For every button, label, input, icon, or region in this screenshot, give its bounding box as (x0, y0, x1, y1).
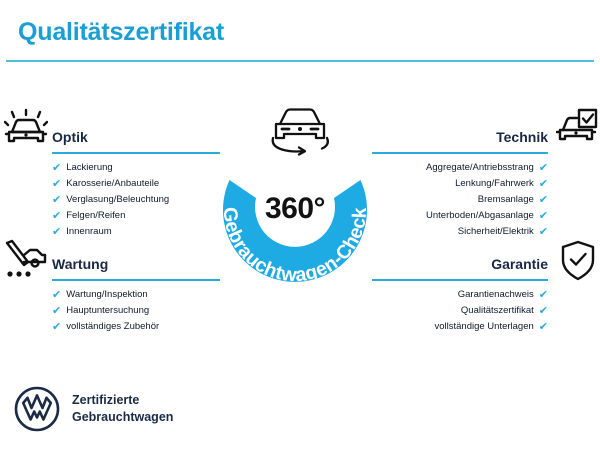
list-item-label: Felgen/Reifen (66, 208, 125, 224)
check-icon: ✔ (52, 227, 61, 238)
footer-line-1: Zertifizierte (72, 392, 173, 409)
list-item-label: Bremsanlage (478, 192, 534, 208)
check-icon: ✔ (539, 179, 548, 190)
check-icon: ✔ (539, 227, 548, 238)
check-icon: ✔ (539, 306, 548, 317)
360-check-badge: Gebrauchtwagen-Check 360° (203, 140, 387, 302)
footer-brand: Zertifizierte Gebrauchtwagen (14, 386, 173, 432)
section-wartung: Wartung ✔Wartung/Inspektion ✔Hauptunters… (52, 255, 220, 335)
list-item-label: Karosserie/Anbauteile (66, 176, 159, 192)
car-shine-icon (4, 108, 48, 155)
check-icon: ✔ (52, 179, 61, 190)
check-icon: ✔ (52, 195, 61, 206)
footer-line-2: Gebrauchtwagen (72, 409, 173, 426)
check-icon: ✔ (52, 306, 61, 317)
list-item-label: Sicherheit/Elektrik (458, 224, 534, 240)
list-item: ✔Karosserie/Anbauteile (52, 176, 220, 192)
list-item-label: Innenraum (66, 224, 111, 240)
certificate-page: Qualitätszertifikat Optik ✔Lackierung ✔K… (0, 0, 600, 450)
list-item: ✔Lackierung (52, 160, 220, 176)
check-icon: ✔ (52, 211, 61, 222)
list-item-label: vollständige Unterlagen (434, 319, 533, 335)
section-technik-divider (372, 152, 548, 154)
list-item-label: Wartung/Inspektion (66, 287, 148, 303)
check-icon: ✔ (52, 163, 61, 174)
title-divider (6, 60, 594, 62)
footer-text: Zertifizierte Gebrauchtwagen (72, 392, 173, 426)
section-optik: Optik ✔Lackierung ✔Karosserie/Anbauteile… (52, 128, 220, 240)
list-item: ✔Hauptuntersuchung (52, 303, 220, 319)
list-item-label: Verglasung/Beleuchtung (66, 192, 169, 208)
section-wartung-divider (52, 279, 220, 281)
section-garantie: Garantie Garantienachweis✔ Qualitätszert… (372, 255, 548, 335)
section-optik-header: Optik (52, 128, 220, 154)
check-icon: ✔ (539, 195, 548, 206)
badge-number: 360° (203, 192, 387, 226)
check-icon: ✔ (539, 211, 548, 222)
section-technik: Technik Aggregate/Antriebsstrang✔ Lenkun… (372, 128, 548, 240)
section-garantie-title: Garantie (372, 255, 548, 273)
list-item: ✔vollständiges Zubehör (52, 319, 220, 335)
list-item-label: Aggregate/Antriebsstrang (426, 160, 534, 176)
list-item-label: Unterboden/Abgasanlage (426, 208, 534, 224)
car-checkbox-icon (556, 108, 598, 155)
list-item-label: Lackierung (66, 160, 112, 176)
list-item: ✔Felgen/Reifen (52, 208, 220, 224)
list-item-label: Qualitätszertifikat (461, 303, 534, 319)
list-item: ✔Innenraum (52, 224, 220, 240)
section-optik-divider (52, 152, 220, 154)
check-icon: ✔ (52, 322, 61, 333)
list-item: vollständige Unterlagen✔ (372, 319, 548, 335)
section-optik-list: ✔Lackierung ✔Karosserie/Anbauteile ✔Verg… (52, 154, 220, 240)
list-item-label: Garantienachweis (458, 287, 534, 303)
list-item: ✔Wartung/Inspektion (52, 287, 220, 303)
section-technik-list: Aggregate/Antriebsstrang✔ Lenkung/Fahrwe… (372, 154, 548, 240)
list-item: Garantienachweis✔ (372, 287, 548, 303)
car-rotation-icon (258, 102, 342, 158)
section-wartung-header: Wartung (52, 255, 220, 281)
section-garantie-header: Garantie (372, 255, 548, 281)
section-wartung-title: Wartung (52, 255, 220, 273)
section-wartung-list: ✔Wartung/Inspektion ✔Hauptuntersuchung ✔… (52, 281, 220, 335)
list-item: Qualitätszertifikat✔ (372, 303, 548, 319)
list-item-label: vollständiges Zubehör (66, 319, 159, 335)
section-garantie-divider (372, 279, 548, 281)
page-title: Qualitätszertifikat (18, 18, 224, 47)
list-item-label: Hauptuntersuchung (66, 303, 149, 319)
car-dipstick-oil-icon (4, 238, 48, 287)
shield-check-icon (560, 240, 596, 287)
list-item: ✔Verglasung/Beleuchtung (52, 192, 220, 208)
section-optik-title: Optik (52, 128, 220, 146)
section-garantie-list: Garantienachweis✔ Qualitätszertifikat✔ v… (372, 281, 548, 335)
vw-logo (14, 386, 60, 432)
list-item: Lenkung/Fahrwerk✔ (372, 176, 548, 192)
check-icon: ✔ (539, 163, 548, 174)
list-item-label: Lenkung/Fahrwerk (455, 176, 534, 192)
list-item: Aggregate/Antriebsstrang✔ (372, 160, 548, 176)
list-item: Bremsanlage✔ (372, 192, 548, 208)
section-technik-title: Technik (372, 128, 548, 146)
section-technik-header: Technik (372, 128, 548, 154)
check-icon: ✔ (52, 290, 61, 301)
check-icon: ✔ (539, 290, 548, 301)
list-item: Unterboden/Abgasanlage✔ (372, 208, 548, 224)
check-icon: ✔ (539, 322, 548, 333)
list-item: Sicherheit/Elektrik✔ (372, 224, 548, 240)
